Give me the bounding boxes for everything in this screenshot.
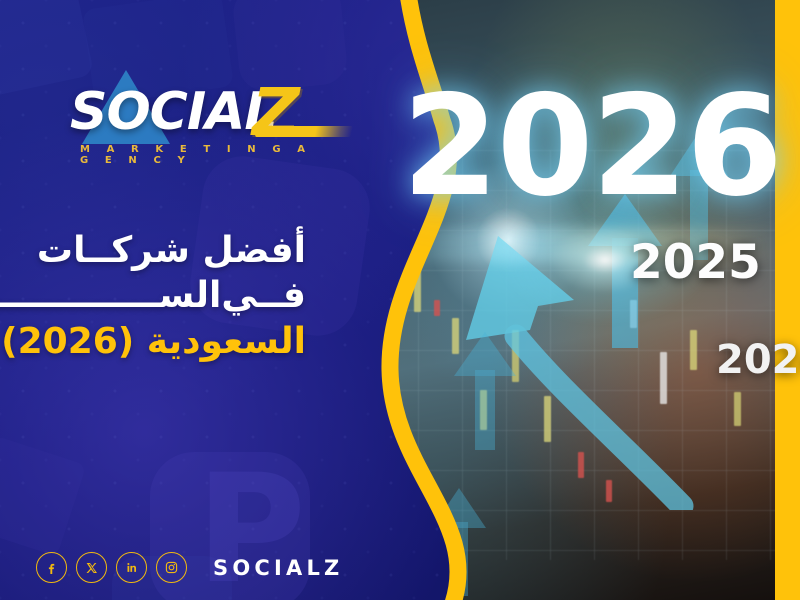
instagram-icon[interactable]: [156, 552, 187, 583]
logo-accent-letter: Z: [252, 74, 300, 151]
year-2024: 2024: [716, 340, 800, 380]
headline-line-2-right: الســـــــــــــيو: [0, 273, 221, 318]
x-twitter-icon[interactable]: [76, 552, 107, 583]
facebook-icon[interactable]: [36, 552, 67, 583]
headline-line-1: أفضل شركــات: [0, 228, 322, 273]
linkedin-icon[interactable]: [116, 552, 147, 583]
year-2026: 2026: [402, 77, 781, 216]
logo-wordmark: SOCIAL: [70, 82, 277, 142]
logo-brush-stroke: [255, 126, 353, 137]
headline-line-3: السعودية (2026): [0, 319, 322, 364]
headline-block: أفضل شركــات فــي الســـــــــــــيو الس…: [0, 228, 322, 364]
promo-banner: P: [0, 0, 800, 600]
socialz-logo[interactable]: SOCIAL Z M A R K E T I N G A G E N C Y: [60, 68, 320, 164]
footer-social-bar: SOCIALZ: [36, 552, 343, 583]
headline-line-2: فــي الســـــــــــــيو: [0, 273, 322, 318]
headline-line-2-left: فــي: [221, 273, 306, 318]
year-2025: 2025: [630, 239, 761, 286]
footer-brand-name: SOCIALZ: [213, 556, 343, 580]
logo-tagline: M A R K E T I N G A G E N C Y: [80, 144, 320, 166]
